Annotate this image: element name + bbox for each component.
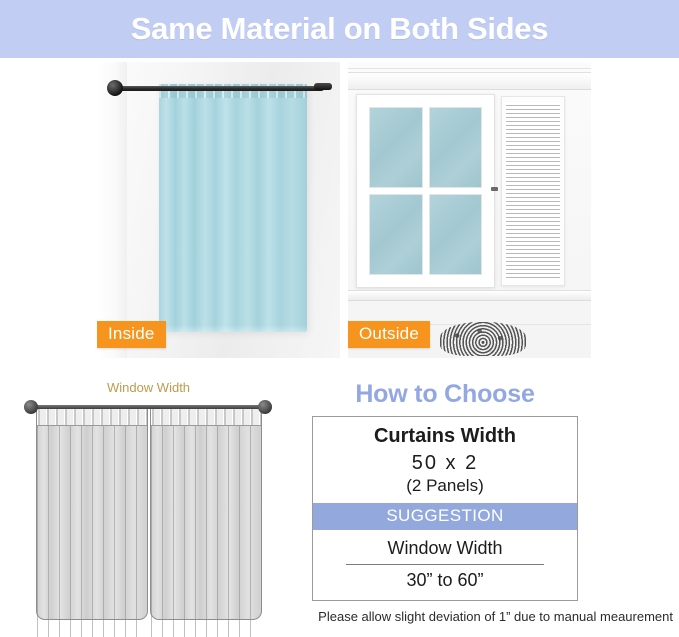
window-sill bbox=[348, 290, 591, 301]
header-banner: Same Material on Both Sides bbox=[0, 0, 679, 58]
photo-inside: Inside bbox=[97, 62, 340, 358]
infographic-page: Same Material on Both Sides Inside bbox=[0, 0, 679, 631]
photo-outside: Outside bbox=[348, 62, 591, 358]
diagram-curtain-rod bbox=[30, 405, 266, 409]
window-panes bbox=[364, 102, 487, 280]
window-pane bbox=[369, 194, 423, 275]
size-info-card: Curtains Width 50 x 2 (2 Panels) SUGGEST… bbox=[312, 416, 578, 601]
panel-rod-pocket bbox=[37, 407, 147, 426]
rod-finial-icon bbox=[107, 80, 123, 96]
panel-folds bbox=[151, 425, 261, 637]
suggestion-band: SUGGESTION bbox=[313, 503, 577, 530]
window-header-trim bbox=[348, 72, 591, 90]
curtain-rod bbox=[119, 86, 324, 91]
window-pane bbox=[429, 194, 483, 275]
page-title: Same Material on Both Sides bbox=[131, 11, 548, 47]
dimension-label: Window Width bbox=[67, 380, 230, 396]
card-panel-count: (2 Panels) bbox=[313, 475, 577, 503]
curtain-width-diagram: Window Width bbox=[22, 378, 274, 623]
wall-edge bbox=[97, 62, 127, 358]
how-to-choose-section: How to Choose Curtains Width 50 x 2 (2 P… bbox=[300, 380, 590, 601]
card-size-value: 50 x 2 bbox=[313, 450, 577, 475]
louvered-shutter bbox=[501, 96, 565, 286]
window-pane bbox=[369, 107, 423, 188]
window-frame bbox=[356, 94, 495, 288]
label-outside: Outside bbox=[348, 321, 430, 348]
card-heading: Curtains Width bbox=[313, 417, 577, 450]
rod-tip bbox=[314, 83, 332, 90]
shrub bbox=[440, 322, 526, 356]
panel-rod-pocket bbox=[151, 407, 261, 426]
curtain-hem bbox=[159, 325, 307, 332]
how-to-choose-title: How to Choose bbox=[300, 380, 590, 409]
label-inside: Inside bbox=[97, 321, 166, 348]
panel-folds bbox=[37, 425, 147, 637]
photo-row: Inside Outside bbox=[0, 58, 679, 360]
diagram-panel-left bbox=[36, 406, 148, 620]
diagram-finial-left-icon bbox=[24, 400, 38, 414]
siding-line bbox=[348, 68, 591, 69]
curtain-panel-photo bbox=[159, 84, 307, 332]
diagram-panel-right bbox=[150, 406, 262, 620]
card-spec-value: 30” to 60” bbox=[313, 565, 577, 600]
shutter-louvers bbox=[506, 102, 560, 280]
diagram-finial-right-icon bbox=[258, 400, 272, 414]
card-spec-label: Window Width bbox=[313, 530, 577, 564]
window-pane bbox=[429, 107, 483, 188]
footer-note: Please allow slight deviation of 1” due … bbox=[0, 609, 679, 624]
window-width-dimension: Window Width bbox=[67, 380, 230, 400]
window-latch-icon bbox=[491, 187, 498, 191]
